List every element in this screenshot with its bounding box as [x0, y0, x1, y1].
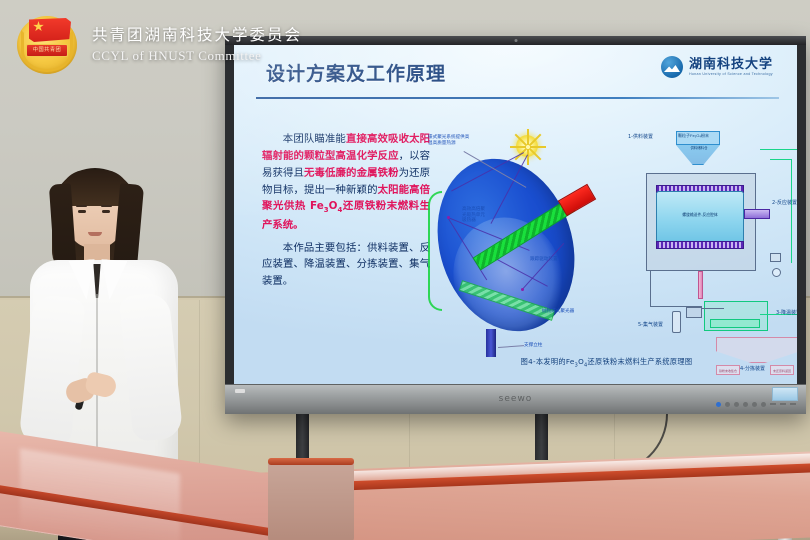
- heating-coil-bottom: [656, 241, 744, 249]
- eyebrow-left: [76, 205, 87, 207]
- tv-control-bar[interactable]: seewo: [225, 384, 806, 414]
- tv-mount-leg-left: [296, 408, 309, 460]
- solar-dish-group: 碟式聚光系统提供高 温高质量热源 高效高倍聚 光吸热单元 吸热器 跟踪驱动装置 …: [424, 129, 624, 369]
- gas-pipe-green-2: [770, 159, 792, 263]
- hnust-mark-icon: [661, 56, 683, 78]
- eye-right: [102, 210, 110, 213]
- slide-body-text: 本团队瞄准能直接高效吸收太阳辐射能的颗粒型高温化学反应，以容易获得且无毒低廉的金…: [262, 131, 430, 296]
- leader-line: [498, 345, 524, 348]
- solar-receiver: [558, 184, 596, 217]
- eye-left: [78, 210, 86, 213]
- title-underline: [256, 97, 779, 99]
- slide-header: 设计方案及工作原理 湖南科技大学 Hunan University of Sci…: [256, 57, 779, 99]
- banner-text-block: 共青团湖南科技大学委员会 CCYL of HNUST Committee: [92, 23, 302, 64]
- presentation-slide: 设计方案及工作原理 湖南科技大学 Hunan University of Sci…: [234, 45, 797, 384]
- ray-node: [447, 216, 450, 219]
- slide-figure: 碟式聚光系统提供高 温高质量热源 高效高倍聚 光吸热单元 吸热器 跟踪驱动装置 …: [424, 125, 789, 376]
- figure-label-solar-2: 高效高倍聚 光吸热单元 吸热器: [462, 207, 485, 224]
- figure-label-solar-4: 抛物碟式聚光器: [542, 309, 574, 315]
- power-led[interactable]: [716, 402, 721, 407]
- university-name-block: 湖南科技大学 Hunan University of Science and T…: [689, 58, 773, 77]
- reactor-plant-group: 颗粒子Fe₃O₄粉末 供料储料仓 螺旋输送件-反应腔体: [620, 125, 797, 375]
- tv-port-marks: [770, 403, 796, 405]
- figure-label-unit-1: 1-供料装置: [628, 133, 653, 140]
- figure-label-solar-5: 支撑立柱: [524, 343, 542, 349]
- chair-back-edge: [268, 458, 354, 465]
- ccyl-emblem-icon: 中国共青团: [12, 8, 82, 78]
- mouth: [88, 232, 102, 236]
- figure-label-solar-1: 碟式聚光系统提供高 温高质量热源: [428, 135, 469, 146]
- lecture-room-scene: 设计方案及工作原理 湖南科技大学 Hunan University of Sci…: [0, 0, 810, 540]
- reactor-core-label: 螺旋输送件-反应腔体: [658, 213, 742, 218]
- tv-screen[interactable]: 设计方案及工作原理 湖南科技大学 Hunan University of Sci…: [234, 45, 797, 384]
- figure-label-unit-2: 2-反应装置: [772, 199, 797, 206]
- gas-pump: [686, 307, 702, 318]
- emblem-red-flag: [29, 18, 71, 42]
- status-led[interactable]: [734, 402, 739, 407]
- hopper-title: 颗粒子Fe₃O₄粉末: [678, 133, 709, 139]
- process-pipe-blue: [650, 271, 702, 307]
- university-name-en: Hunan University of Science and Technolo…: [689, 73, 773, 77]
- status-led[interactable]: [743, 402, 748, 407]
- desk-left: [0, 455, 310, 540]
- tv-energy-sticker: [772, 387, 798, 401]
- support-pillar: [486, 329, 496, 357]
- port-mark: [770, 403, 776, 405]
- tv-brand-logo: seewo: [499, 394, 533, 404]
- hopper-subtitle: 供料储料仓: [680, 147, 718, 151]
- cooling-unit-inner: [710, 319, 760, 328]
- caption-part: 还原铁粉末燃料生产系统原理图: [588, 357, 693, 366]
- caption-part: 图4-本发明的Fe: [521, 357, 575, 366]
- status-led[interactable]: [725, 402, 730, 407]
- tv-spec-label: [235, 389, 245, 393]
- port-mark: [790, 403, 796, 405]
- emblem-banner-band: 中国共青团: [26, 44, 68, 57]
- text-highlight: 无毒低廉的金属铁粉: [304, 167, 399, 179]
- university-logo: 湖南科技大学 Hunan University of Science and T…: [661, 56, 773, 78]
- interactive-display-panel[interactable]: 设计方案及工作原理 湖南科技大学 Hunan University of Sci…: [225, 36, 806, 414]
- text-run: 本团队瞄准能: [283, 133, 346, 145]
- figure-caption: 图4-本发明的Fe3O4还原铁粉末燃料生产系统原理图: [424, 357, 789, 368]
- slide-paragraph-2: 本作品主要包括：供料装置、反应装置、降温装置、分拣装置、集气装置。: [262, 240, 430, 291]
- status-led[interactable]: [752, 402, 757, 407]
- ray-node: [521, 288, 524, 291]
- gas-collection-cylinder: [672, 311, 681, 333]
- figure-label-unit-5: 5-集气装置: [638, 321, 663, 328]
- banner-title-cn: 共青团湖南科技大学委员会: [92, 23, 302, 45]
- port-mark: [780, 403, 786, 405]
- process-pipe-blue-2: [702, 301, 724, 309]
- banner-title-en: CCYL of HNUST Committee: [92, 48, 302, 64]
- figure-label-solar-3: 跟踪驱动装置: [530, 257, 558, 263]
- broadcast-banner: 中国共青团 共青团湖南科技大学委员会 CCYL of HNUST Committ…: [12, 8, 302, 78]
- figure-label-unit-3: 3-降温装置: [776, 309, 797, 316]
- slide-paragraph-1: 本团队瞄准能直接高效吸收太阳辐射能的颗粒型高温化学反应，以容易获得且无毒低廉的金…: [262, 131, 430, 234]
- chair-back: [268, 458, 354, 540]
- camera-icon: [514, 39, 517, 42]
- emblem-band-text: 中国共青团: [27, 45, 67, 56]
- university-name-cn: 湖南科技大学: [689, 58, 773, 71]
- tv-indicator-leds[interactable]: [716, 402, 766, 407]
- status-led[interactable]: [761, 402, 766, 407]
- tv-mount-leg-right: [535, 408, 548, 460]
- eyebrow-right: [101, 205, 112, 207]
- tv-bezel-top: [225, 36, 806, 45]
